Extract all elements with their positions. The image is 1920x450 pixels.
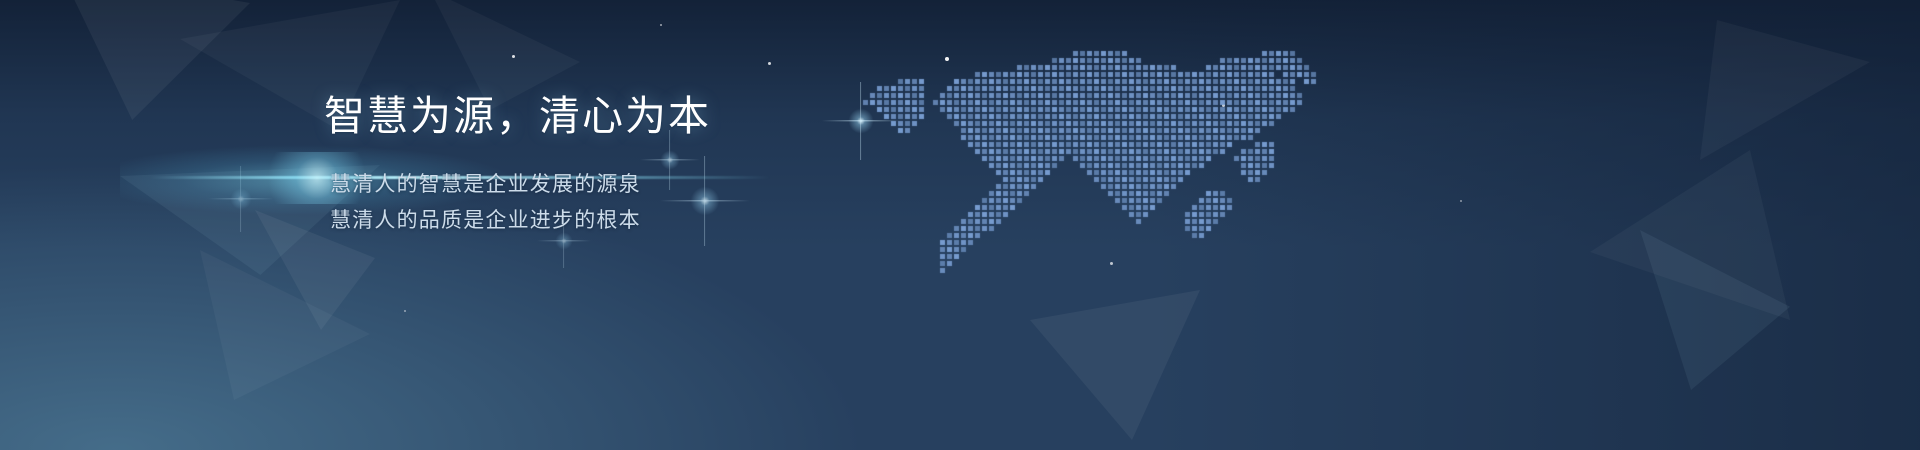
banner-subtitle-line-2: 慧清人的品质是企业进步的根本	[330, 210, 641, 231]
star-dot	[1460, 200, 1462, 202]
lens-flare-sparkle	[660, 150, 680, 170]
lens-flare-sparkle	[230, 188, 252, 210]
star-dot	[660, 24, 662, 26]
star-dot	[768, 62, 771, 65]
banner-headline: 智慧为源，清心为本	[324, 96, 711, 137]
banner-subtitle-line-1: 慧清人的智慧是企业发展的源泉	[330, 174, 641, 195]
polygon-shard-6	[1590, 150, 1790, 320]
world-map-canvas	[828, 44, 1368, 344]
lens-flare-sparkle	[690, 186, 720, 216]
polygon-shard-7	[1640, 230, 1790, 390]
dotted-world-map	[828, 44, 1368, 344]
star-dot	[404, 310, 406, 312]
star-dot	[512, 55, 515, 58]
polygon-shard-4	[200, 250, 370, 400]
polygon-shard-8	[1700, 20, 1870, 160]
polygon-shard-1	[60, 0, 250, 120]
lens-flare-sparkle	[555, 232, 573, 250]
hero-banner: 智慧为源，清心为本 慧清人的智慧是企业发展的源泉 慧清人的品质是企业进步的根本	[0, 0, 1920, 450]
